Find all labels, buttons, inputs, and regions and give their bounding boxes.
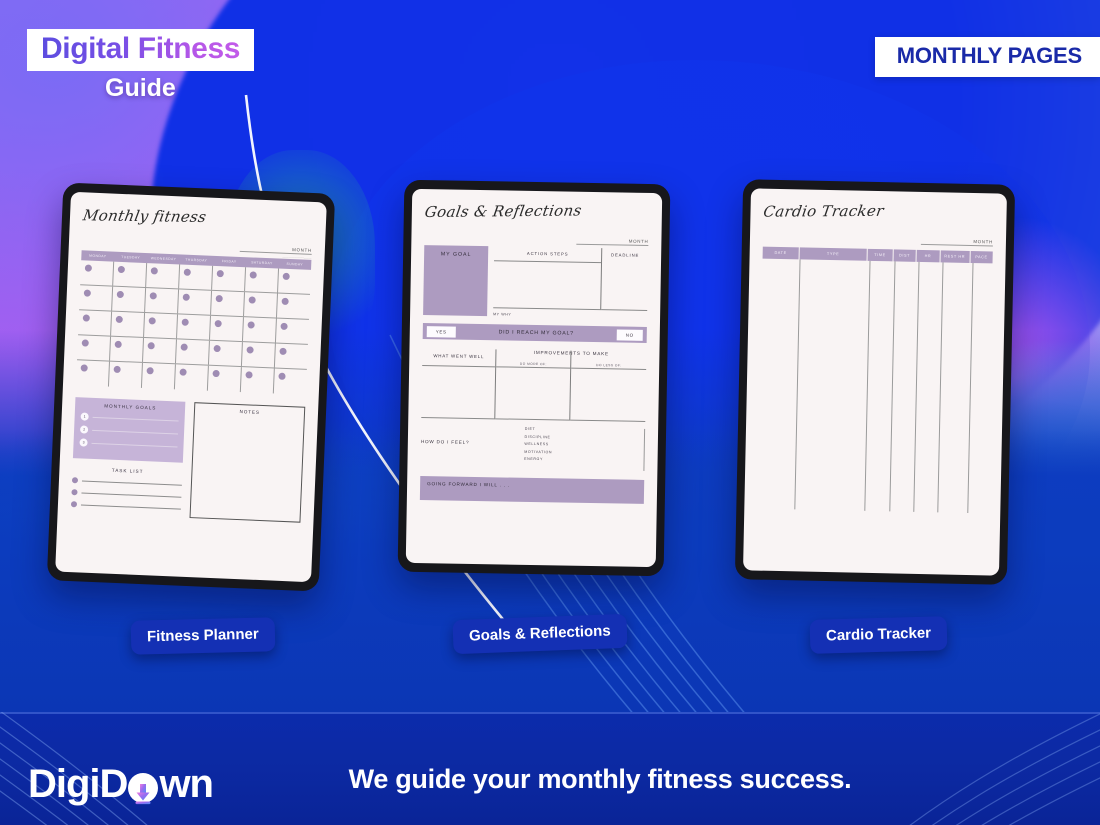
day-marker-dot: [147, 367, 154, 374]
goal-number: 3: [79, 438, 87, 446]
do-less-column[interactable]: DO LESS OF:: [571, 351, 647, 422]
page-subtitle: Guide: [105, 74, 176, 103]
task-bullet-dot: [71, 501, 77, 507]
cardio-tracker-page: Cardio Tracker MONTH DATE TYPE TIME DIST…: [743, 188, 1007, 575]
calendar-cell[interactable]: [179, 264, 213, 289]
calendar-cell[interactable]: [244, 292, 278, 317]
do-less-label: DO LESS OF:: [572, 351, 647, 368]
how-do-i-feel-section: HOW DO I FEEL? DIET DISCIPLINE WELLNESS …: [420, 425, 645, 473]
column-bottom-rule: [421, 417, 494, 419]
calendar-cell[interactable]: [245, 267, 279, 292]
day-marker-dot: [283, 273, 290, 280]
calendar-cell[interactable]: [276, 319, 309, 344]
goal-entry[interactable]: 2: [80, 425, 179, 437]
tablet-device-cardio-tracker[interactable]: Cardio Tracker MONTH DATE TYPE TIME DIST…: [735, 179, 1015, 585]
calendar-cell[interactable]: [275, 344, 308, 369]
goal-number: 1: [81, 412, 89, 420]
feel-metric-wellness: WELLNESS: [524, 442, 644, 448]
planner-page: Monthly fitness MONTH __________________…: [55, 192, 327, 582]
poster-canvas: Digital Fitness Guide MONTHLY PAGES Mont…: [0, 0, 1100, 825]
calendar-cell[interactable]: [80, 260, 114, 285]
calendar-cell[interactable]: [242, 342, 276, 367]
calendar-cell[interactable]: [208, 366, 242, 392]
goals-page-title: Goals & Reflections: [424, 201, 652, 221]
notes-title: NOTES: [195, 403, 304, 417]
column-header-date: DATE: [763, 247, 799, 260]
what-went-well-label: WHAT WENT WELL: [422, 348, 495, 359]
tablet-screen: Goals & Reflections MONTH MY GOAL ACTION…: [406, 189, 662, 567]
footer-bar: DigiD wn We guide your monthly fitness s: [0, 712, 1100, 825]
day-marker-dot: [282, 298, 289, 305]
tablet-device-goals-reflections[interactable]: Goals & Reflections MONTH MY GOAL ACTION…: [398, 180, 671, 577]
my-goal-box[interactable]: MY GOAL: [423, 245, 488, 316]
day-marker-dot: [217, 270, 224, 277]
task-write-line: [81, 504, 181, 509]
calendar-cell[interactable]: [143, 338, 177, 363]
column-rule: [422, 365, 495, 367]
planner-lower-section: MONTHLY GOALS 1 2 3: [71, 397, 306, 523]
feel-metric-motivation: MOTIVATION: [524, 449, 644, 455]
table-column-divider: [967, 263, 973, 513]
what-went-well-column[interactable]: WHAT WENT WELL: [421, 348, 496, 419]
day-marker-dot: [181, 344, 188, 351]
calendar-cell[interactable]: [274, 368, 307, 394]
feel-metric-diet: DIET: [525, 427, 645, 433]
goals-column: MONTHLY GOALS 1 2 3: [71, 397, 186, 518]
calendar-cell[interactable]: [77, 335, 111, 360]
calendar-cell[interactable]: [113, 262, 147, 287]
task-entry[interactable]: [71, 489, 182, 500]
day-marker-dot: [248, 321, 255, 328]
day-marker-dot: [183, 294, 190, 301]
cardio-page-title: Cardio Tracker: [762, 201, 996, 221]
day-marker-dot: [83, 314, 90, 321]
table-column-divider: [937, 262, 943, 512]
table-column-divider: [794, 259, 800, 509]
column-header-dist: DIST: [893, 249, 916, 261]
calendar-cell[interactable]: [76, 360, 110, 386]
day-marker-dot: [116, 316, 123, 323]
calendar-cell[interactable]: [177, 314, 211, 339]
day-marker-dot: [81, 364, 88, 371]
action-steps-bottom-rule: [493, 307, 600, 310]
feel-metrics-list[interactable]: DIET DISCIPLINE WELLNESS MOTIVATION ENER…: [510, 427, 645, 473]
column-header-rest-hr: REST HR: [940, 250, 969, 263]
calendar-cell[interactable]: [243, 317, 277, 342]
task-list-title: TASK LIST: [72, 466, 183, 476]
action-steps-label: ACTION STEPS: [494, 246, 601, 257]
page-title: Digital Fitness: [41, 32, 240, 66]
goal-section: MY GOAL ACTION STEPS DEADLINE: [423, 245, 648, 319]
day-marker-dot: [82, 339, 89, 346]
calendar-cell[interactable]: [109, 362, 143, 388]
calendar-grid[interactable]: [76, 260, 311, 395]
calendar-cell[interactable]: [241, 367, 275, 393]
action-steps-column[interactable]: ACTION STEPS: [493, 246, 602, 310]
feel-metric-energy: ENERGY: [524, 457, 644, 463]
day-marker-dot: [245, 371, 252, 378]
calendar-cell[interactable]: [277, 294, 310, 319]
reflection-row: WHAT WENT WELL IMPROVEMENTS TO MAKE DO M…: [421, 348, 646, 422]
status-badge: MONTHLY PAGES: [875, 37, 1100, 77]
calendar-cell[interactable]: [210, 316, 244, 341]
action-steps-row: ACTION STEPS DEADLINE: [493, 246, 648, 311]
day-marker-dot: [149, 317, 156, 324]
tablet-screen: Cardio Tracker MONTH DATE TYPE TIME DIST…: [743, 188, 1007, 575]
column-bottom-rule: [495, 418, 570, 420]
going-forward-bar[interactable]: GOING FORWARD I WILL . . .: [420, 476, 644, 504]
day-marker-dot: [250, 271, 257, 278]
day-marker-dot: [85, 264, 92, 271]
calendar-cell[interactable]: [146, 263, 180, 288]
day-marker-dot: [246, 346, 253, 353]
day-marker-dot: [278, 373, 285, 380]
improvements-column: IMPROVEMENTS TO MAKE DO MORE OF: DO LESS…: [495, 349, 646, 422]
tablet-screen: Monthly fitness MONTH __________________…: [55, 192, 327, 582]
day-marker-dot: [84, 289, 91, 296]
day-marker-dot: [148, 342, 155, 349]
goal-write-line: [93, 416, 179, 421]
how-do-i-feel-label: HOW DO I FEEL?: [420, 425, 510, 471]
calendar-cell[interactable]: [112, 287, 146, 312]
reach-goal-bar: YES DID I REACH MY GOAL? NO: [423, 323, 647, 343]
calendar-cell[interactable]: [211, 291, 245, 316]
table-column-divider: [914, 262, 920, 512]
goal-write-line: [92, 429, 178, 434]
calendar-cell[interactable]: [79, 285, 113, 310]
task-write-line: [81, 492, 181, 497]
notes-box[interactable]: NOTES: [190, 402, 305, 523]
action-steps-rule: [494, 260, 601, 263]
month-rule: [576, 244, 648, 246]
table-column-divider: [864, 261, 870, 511]
column-bottom-rule: [571, 420, 646, 422]
monthly-goals-box[interactable]: MONTHLY GOALS 1 2 3: [73, 397, 186, 463]
deadline-label: DEADLINE: [602, 248, 648, 258]
my-why-label: MY WHY: [493, 312, 647, 319]
day-marker-dot: [114, 366, 121, 373]
deadline-column[interactable]: DEADLINE: [601, 248, 648, 311]
footer-tagline: We guide your monthly fitness success.: [0, 764, 1100, 795]
day-marker-dot: [184, 269, 191, 276]
label-cardio-tracker[interactable]: Cardio Tracker: [810, 616, 948, 654]
day-marker-dot: [249, 296, 256, 303]
do-more-label: DO MORE OF:: [496, 349, 571, 366]
calendar-cell[interactable]: [178, 289, 212, 314]
feel-divider-line: [643, 429, 645, 471]
calendar-cell[interactable]: [212, 266, 246, 291]
calendar-cell[interactable]: [278, 269, 311, 294]
page-title-box: Digital Fitness: [27, 29, 254, 71]
cardio-month-field[interactable]: MONTH: [921, 238, 993, 248]
calendar-cell[interactable]: [144, 313, 178, 338]
calendar-cell[interactable]: [111, 312, 145, 337]
column-rule: [572, 368, 647, 370]
day-marker-dot: [216, 295, 223, 302]
calendar-cell[interactable]: [209, 341, 243, 366]
feel-metric-discipline: DISCIPLINE: [525, 434, 645, 440]
label-fitness-planner[interactable]: Fitness Planner: [131, 617, 275, 655]
yes-button[interactable]: YES: [427, 326, 456, 338]
tablet-device-fitness-planner[interactable]: Monthly fitness MONTH __________________…: [47, 182, 335, 591]
no-button[interactable]: NO: [617, 329, 643, 340]
goal-entry[interactable]: 3: [79, 438, 178, 450]
calendar-cell[interactable]: [175, 364, 209, 390]
calendar-cell[interactable]: [78, 310, 112, 335]
task-bullet-dot: [72, 477, 78, 483]
task-bullet-dot: [71, 489, 77, 495]
goal-right-section: ACTION STEPS DEADLINE MY WHY: [493, 246, 648, 319]
day-marker-dot: [118, 266, 125, 273]
table-column-divider: [890, 261, 896, 511]
goals-month-field[interactable]: MONTH: [576, 238, 648, 246]
day-marker-dot: [151, 267, 158, 274]
day-marker-dot: [280, 323, 287, 330]
calendar-cell[interactable]: [110, 337, 144, 362]
task-entry[interactable]: [71, 501, 182, 512]
goal-entry[interactable]: 1: [81, 412, 180, 424]
goals-reflections-page: Goals & Reflections MONTH MY GOAL ACTION…: [406, 189, 662, 567]
day-marker-dot: [150, 292, 157, 299]
calendar-cell[interactable]: [145, 288, 179, 313]
task-write-line: [82, 480, 182, 485]
month-rule: [921, 244, 993, 247]
day-marker-dot: [212, 370, 219, 377]
day-marker-dot: [213, 345, 220, 352]
column-header-time: TIME: [868, 249, 893, 262]
goal-write-line: [92, 442, 178, 447]
reach-goal-question: DID I REACH MY GOAL?: [456, 329, 617, 338]
calendar-cell[interactable]: [176, 339, 210, 364]
day-marker-dot: [215, 320, 222, 327]
calendar-cell[interactable]: [142, 363, 176, 389]
day-marker-dot: [279, 348, 286, 355]
day-marker-dot: [115, 341, 122, 348]
day-marker-dot: [117, 291, 124, 298]
column-header-hr: HR: [917, 250, 940, 262]
do-more-column[interactable]: DO MORE OF:: [495, 349, 572, 420]
goal-number: 2: [80, 425, 88, 433]
column-rule: [496, 366, 571, 368]
column-header-pace: PACE: [970, 251, 993, 263]
cardio-table-body[interactable]: [757, 259, 992, 514]
planner-page-title: Monthly fitness: [82, 206, 316, 227]
day-marker-dot: [182, 319, 189, 326]
monthly-goals-title: MONTHLY GOALS: [81, 402, 180, 411]
task-entry[interactable]: [72, 477, 183, 488]
day-marker-dot: [179, 369, 186, 376]
label-goals-reflections[interactable]: Goals & Reflections: [452, 614, 627, 654]
deadline-bottom-rule: [601, 309, 647, 311]
